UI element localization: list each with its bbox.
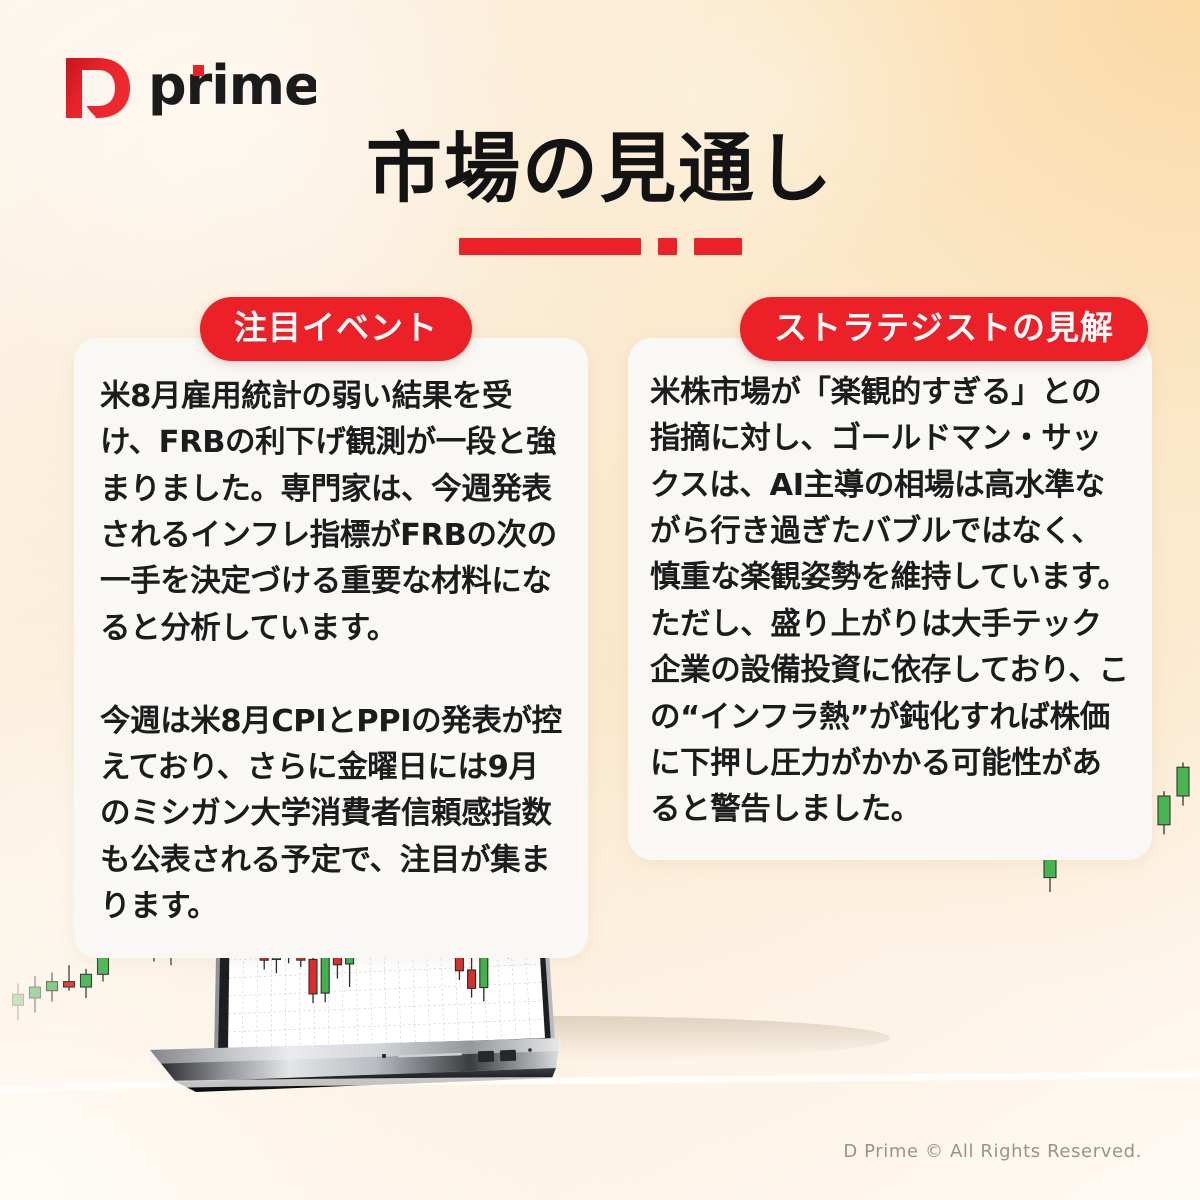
svg-text:prime: prime [148, 56, 316, 117]
brand-logo[interactable]: prime [62, 52, 316, 124]
poster-canvas: prime 市場の見通し [0, 0, 1200, 1200]
rule-segment-mid [694, 238, 742, 255]
rule-segment-long [459, 238, 641, 255]
card-left-paragraph-2: 今週は米8月CPIとPPIの発表が控えており、さらに金曜日には9月のミシガン大学… [100, 699, 562, 931]
card-featured-events: 米8月雇用統計の弱い結果を受け、FRBの利下げ観測が一段と強まりました。専門家は… [74, 338, 588, 958]
badge-featured-events: 注目イベント [200, 297, 472, 361]
badge-strategist-view: ストラテジストの見解 [740, 297, 1148, 361]
footer-copyright: D Prime © All Rights Reserved. [843, 1141, 1142, 1162]
rule-segment-dot [658, 238, 677, 255]
card-right-paragraph-1: 米株市場が「楽観的すぎる」との指摘に対し、ゴールドマン・サックスは、AI主導の相… [650, 370, 1130, 834]
card-right-body: 米株市場が「楽観的すぎる」との指摘に対し、ゴールドマン・サックスは、AI主導の相… [628, 338, 1152, 860]
title-underline-decoration [0, 238, 1200, 255]
brand-wordmark: prime [148, 56, 316, 127]
card-left-paragraph-1: 米8月雇用統計の弱い結果を受け、FRBの利下げ観測が一段と強まりました。専門家は… [100, 374, 562, 652]
card-left-body: 米8月雇用統計の弱い結果を受け、FRBの利下げ観測が一段と強まりました。専門家は… [74, 338, 588, 958]
page-title: 市場の見通し [0, 128, 1200, 210]
card-strategist-view: 米株市場が「楽観的すぎる」との指摘に対し、ゴールドマン・サックスは、AI主導の相… [628, 338, 1152, 860]
d-prime-logo-icon [62, 52, 134, 124]
